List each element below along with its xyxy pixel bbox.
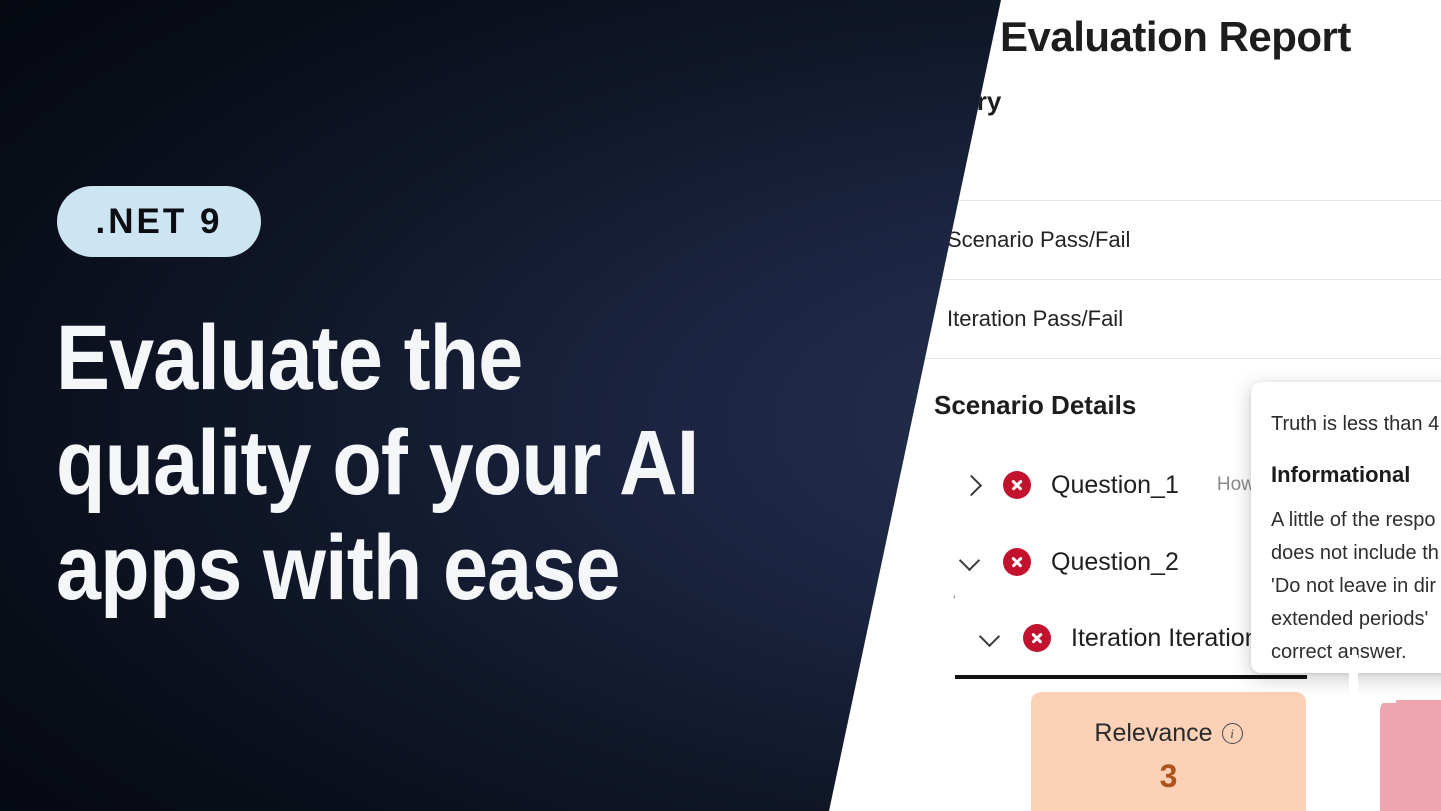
- fail-icon: [1003, 471, 1031, 499]
- list-item[interactable]: Question_1 How: [955, 470, 1255, 500]
- chevron-down-icon[interactable]: [975, 623, 1005, 653]
- summary-row-label: Iteration Pass/Fail: [947, 306, 1123, 332]
- dotnet-version-label: .NET 9: [96, 202, 223, 242]
- scenario-meta: How: [1217, 474, 1255, 496]
- tooltip-heading: Informational: [1271, 462, 1441, 488]
- fail-icon: [1003, 548, 1031, 576]
- table-row[interactable]: Iteration Pass/Fail: [910, 279, 1441, 359]
- divider: [955, 675, 1307, 679]
- chevron-down-icon[interactable]: [955, 547, 985, 577]
- crosshair-cursor-icon: [1310, 655, 1396, 741]
- metric-card-relevance[interactable]: Relevance i 3: [1031, 692, 1306, 811]
- summary-row-label: Scenario Pass/Fail: [947, 227, 1130, 253]
- dotnet-version-badge: .NET 9: [57, 186, 261, 257]
- crosshair-vertical: [1349, 655, 1358, 741]
- iteration-name: Iteration Iteration: [1071, 624, 1259, 653]
- scenario-details-heading: Scenario Details: [934, 390, 1136, 421]
- info-icon[interactable]: i: [1222, 723, 1243, 744]
- metric-tooltip: Truth is less than 4. Informational A li…: [1251, 382, 1441, 673]
- tooltip-threshold-text: Truth is less than 4.: [1271, 410, 1441, 438]
- tree-guide-mark: ': [953, 592, 956, 608]
- metric-title: Relevance i: [1094, 719, 1242, 748]
- tooltip-body-line: A little of the respo: [1271, 504, 1441, 537]
- table-row[interactable]: Scenario Pass/Fail: [910, 200, 1441, 279]
- list-item[interactable]: Iteration Iteration: [975, 623, 1259, 653]
- metric-value: 3: [1031, 758, 1306, 795]
- summary-table: Scenario Pass/Fail Iteration Pass/Fail: [910, 200, 1441, 359]
- tooltip-body-line: 'Do not leave in dir: [1271, 570, 1441, 603]
- scenario-name: Question_2: [1051, 548, 1179, 577]
- metric-label: Relevance: [1094, 719, 1212, 748]
- promo-headline: Evaluate the quality of your AI apps wit…: [56, 306, 760, 621]
- promo-screenshot: .NET 9 Evaluate the quality of your AI a…: [0, 0, 1441, 811]
- tooltip-body-line: extended periods': [1271, 603, 1441, 636]
- scenario-name: Question_1: [1051, 471, 1179, 500]
- list-item[interactable]: Question_2: [955, 547, 1179, 577]
- chevron-right-icon[interactable]: [955, 470, 985, 500]
- page-title: Evaluation Report: [1000, 13, 1351, 61]
- tooltip-body-line: does not include th: [1271, 537, 1441, 570]
- fail-icon: [1023, 624, 1051, 652]
